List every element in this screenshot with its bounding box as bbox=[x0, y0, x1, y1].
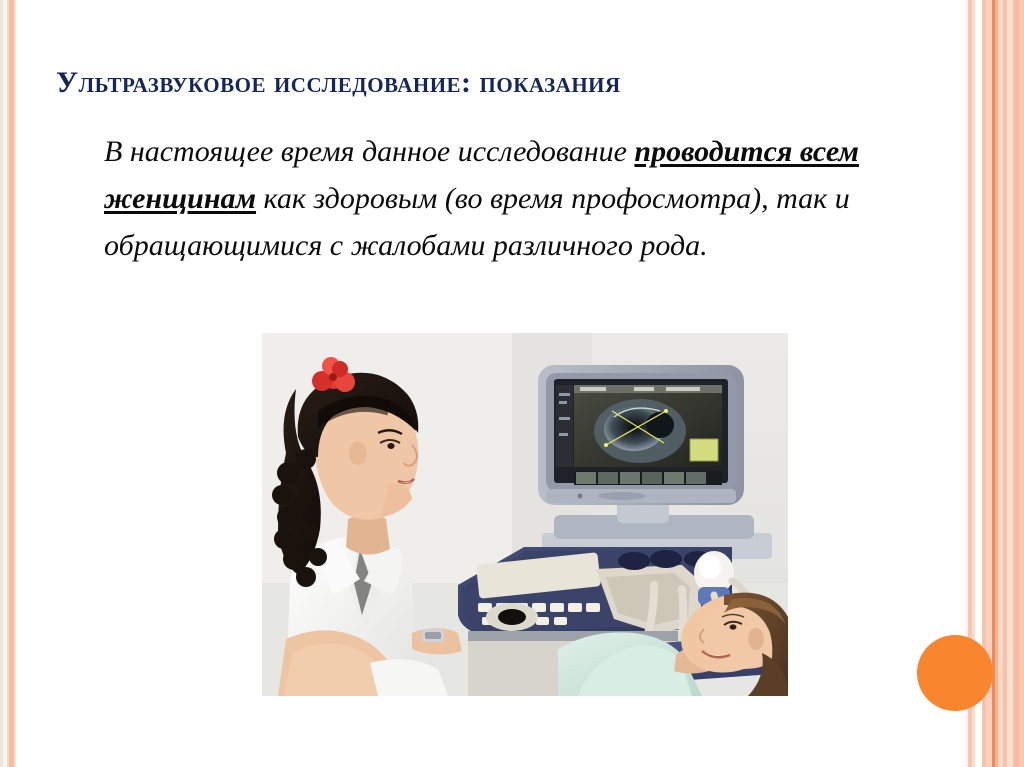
left-edge-stripes bbox=[0, 0, 18, 767]
ultrasound-examination-photo bbox=[262, 333, 788, 696]
body-text-part-1: В настоящее время данное исследование bbox=[104, 135, 634, 168]
orange-accent-dot bbox=[917, 635, 993, 711]
photo-illustration bbox=[262, 333, 788, 696]
body-paragraph: В настоящее время данное исследование пр… bbox=[104, 128, 894, 269]
slide-canvas: Ультразвуковое исследование: показания В… bbox=[0, 0, 1024, 767]
page-title: Ультразвуковое исследование: показания bbox=[56, 66, 621, 100]
